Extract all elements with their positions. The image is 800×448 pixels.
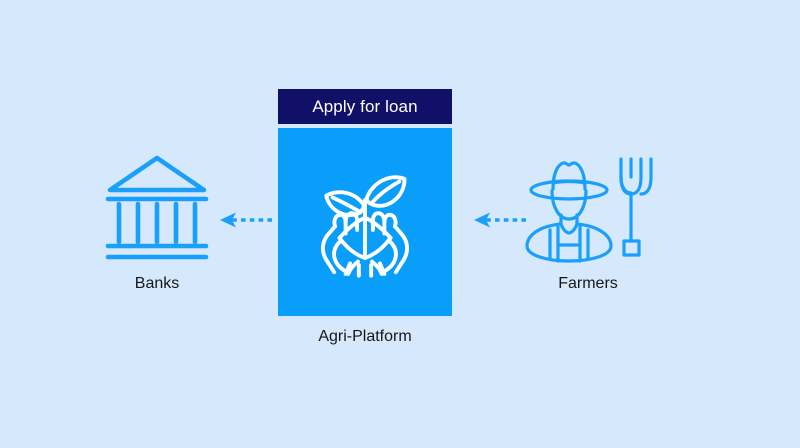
node-agri-platform[interactable]: Apply for loan (278, 89, 452, 346)
dashed-arrow-left-icon-platform-to-banks (200, 208, 276, 232)
farmer-with-pitchfork-icon (521, 145, 656, 263)
diagram-canvas: Banks Apply for loan (0, 0, 800, 448)
apply-for-loan-banner[interactable]: Apply for loan (278, 89, 452, 124)
node-agri-platform-label: Agri-Platform (318, 328, 411, 346)
apply-for-loan-label: Apply for loan (312, 98, 417, 115)
node-banks-label: Banks (135, 275, 179, 293)
agri-platform-panel[interactable] (278, 128, 452, 316)
hands-holding-seedling-icon (299, 156, 431, 288)
node-farmers-label: Farmers (558, 275, 618, 293)
bank-building-icon (97, 145, 217, 265)
node-farmers[interactable]: Farmers (518, 145, 658, 293)
